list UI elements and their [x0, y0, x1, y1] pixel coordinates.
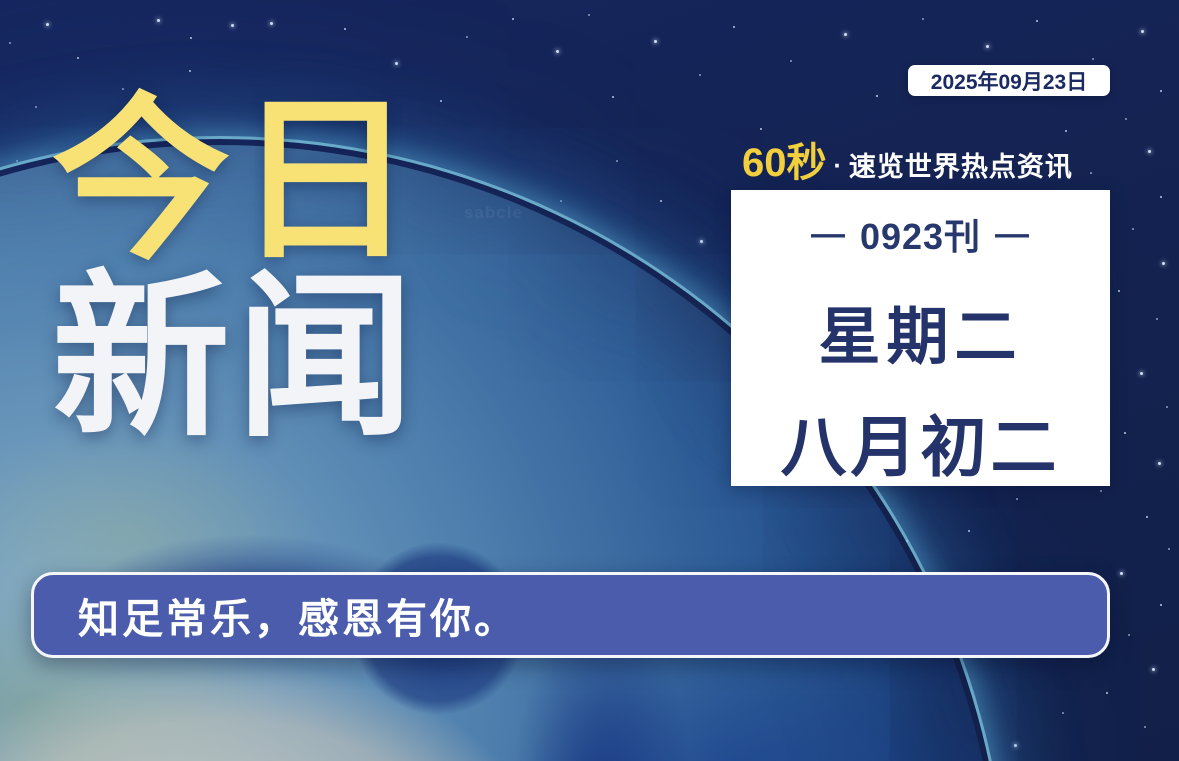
page-title-line-1: 今日 — [52, 96, 420, 267]
tagline: 60秒 · 速览世界热点资讯 — [742, 143, 1073, 183]
quote-banner-text: 知足常乐，感恩有你。 — [34, 585, 518, 645]
date-badge: 2025年09月23日 — [908, 65, 1110, 96]
page-title: 今日 新闻 — [52, 96, 420, 444]
news-poster: sabcle 今日 新闻 2025年09月23日 60秒 · 速览世界热点资讯 … — [0, 0, 1179, 761]
date-badge-label: 2025年09月23日 — [931, 66, 1087, 96]
weekday-label: 星期二 — [818, 286, 1022, 376]
tagline-separator: · — [832, 154, 844, 183]
issue-dash-left: — — [811, 215, 846, 254]
tagline-seconds: 60秒 — [742, 143, 827, 183]
tagline-text: 速览世界热点资讯 — [849, 154, 1073, 183]
issue-number: 0923刊 — [860, 208, 981, 260]
issue-dash-right: — — [995, 215, 1030, 254]
page-title-line-2: 新闻 — [52, 273, 420, 444]
watermark-text: sabcle — [464, 203, 523, 223]
issue-row: — 0923刊 — — [811, 208, 1030, 260]
calendar-info-card: — 0923刊 — 星期二 八月初二 — [731, 190, 1110, 486]
quote-banner: 知足常乐，感恩有你。 — [31, 572, 1110, 658]
lunar-date-label: 八月初二 — [781, 394, 1061, 490]
